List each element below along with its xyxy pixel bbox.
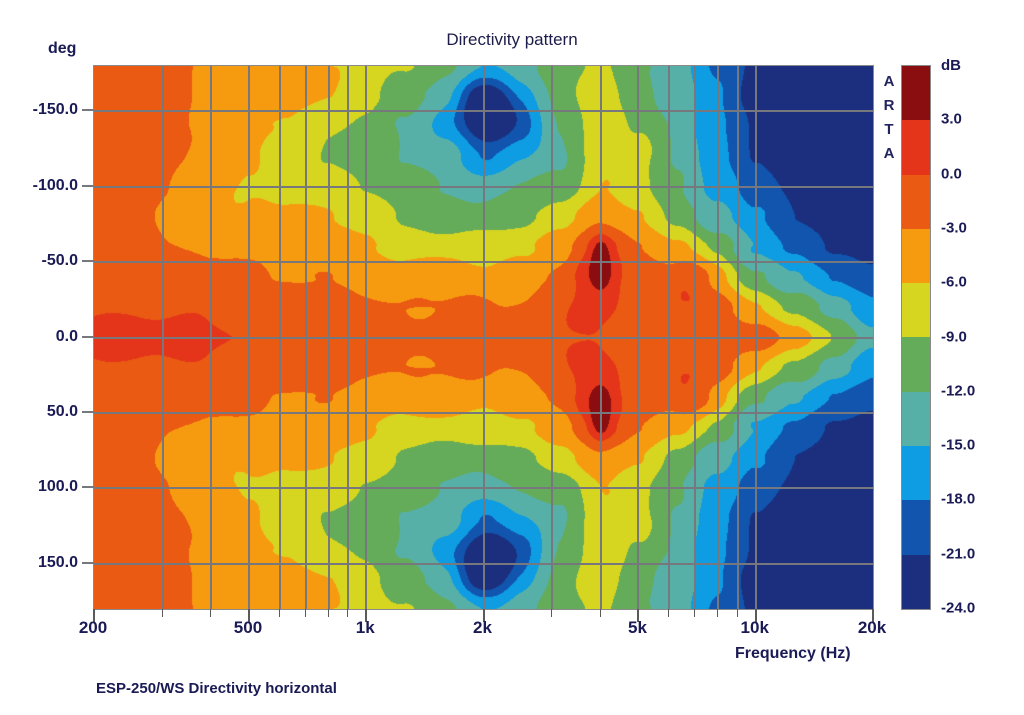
colorbar-band [902, 555, 930, 609]
y-axis-tick-label: -100.0 [0, 177, 78, 195]
heatmap-plot-area[interactable] [93, 65, 874, 610]
colorbar-tick-label: -9.0 [941, 328, 967, 345]
colorbar-band [902, 337, 930, 391]
x-axis-tick-label: 1k [356, 618, 375, 638]
x-axis-tick [162, 609, 163, 617]
x-axis-tick [279, 609, 280, 617]
x-axis-tick-label: 5k [628, 618, 647, 638]
y-axis-tick-label: -50.0 [0, 252, 78, 270]
y-axis-tick [82, 109, 94, 111]
y-axis-tick-label: -150.0 [0, 101, 78, 119]
colorbar-tick-label: -3.0 [941, 219, 967, 236]
chart-caption: ESP-250/WS Directivity horizontal [96, 680, 337, 697]
colorbar-tick-label: -15.0 [941, 437, 975, 454]
x-axis-tick [668, 609, 669, 617]
colorbar[interactable] [901, 65, 931, 610]
watermark-letter: A [880, 70, 898, 94]
watermark-letter: R [880, 94, 898, 118]
colorbar-tick-label: 0.0 [941, 165, 962, 182]
colorbar-tick-label: -21.0 [941, 545, 975, 562]
colorbar-tick-label: -12.0 [941, 382, 975, 399]
x-axis-tick [347, 609, 348, 617]
x-axis-tick [694, 609, 695, 617]
colorbar-band [902, 66, 930, 120]
x-axis-tick-label: 20k [858, 618, 886, 638]
x-axis-tick [737, 609, 738, 617]
colorbar-band [902, 392, 930, 446]
y-axis-tick [82, 260, 94, 262]
colorbar-tick-label: -6.0 [941, 274, 967, 291]
colorbar-band [902, 446, 930, 500]
directivity-heatmap [94, 66, 873, 609]
y-axis-tick [82, 185, 94, 187]
x-axis-tick [210, 609, 211, 617]
x-axis-tick-label: 200 [79, 618, 107, 638]
colorbar-band [902, 283, 930, 337]
x-axis-tick [328, 609, 329, 617]
colorbar-band [902, 229, 930, 283]
colorbar-tick-label: 3.0 [941, 111, 962, 128]
colorbar-band [902, 120, 930, 174]
x-axis-title: Frequency (Hz) [735, 645, 851, 663]
x-axis-tick [600, 609, 601, 617]
colorbar-unit-label: dB [941, 57, 961, 74]
x-axis-tick-label: 500 [234, 618, 262, 638]
x-axis-tick [305, 609, 306, 617]
colorbar-tick-label: -18.0 [941, 491, 975, 508]
arta-watermark: ARTA [880, 70, 898, 166]
y-axis-tick-label: 0.0 [0, 328, 78, 346]
y-axis-tick [82, 562, 94, 564]
x-axis-tick [717, 609, 718, 617]
y-axis-tick-label: 50.0 [0, 403, 78, 421]
page-title: Directivity pattern [0, 30, 1024, 50]
x-axis-tick-label: 2k [473, 618, 492, 638]
x-axis-tick-label: 10k [741, 618, 769, 638]
y-axis-tick [82, 486, 94, 488]
chart-root: Directivity pattern deg dB 2005001k2k5k1… [0, 0, 1024, 715]
y-axis-tick [82, 336, 94, 338]
y-axis-unit-label: deg [48, 40, 76, 58]
y-axis-tick-label: 100.0 [0, 478, 78, 496]
watermark-letter: T [880, 118, 898, 142]
colorbar-band [902, 175, 930, 229]
watermark-letter: A [880, 142, 898, 166]
y-axis-tick [82, 411, 94, 413]
colorbar-band [902, 500, 930, 554]
y-axis-tick-label: 150.0 [0, 554, 78, 572]
colorbar-tick-label: -24.0 [941, 600, 975, 617]
x-axis-tick [551, 609, 552, 617]
